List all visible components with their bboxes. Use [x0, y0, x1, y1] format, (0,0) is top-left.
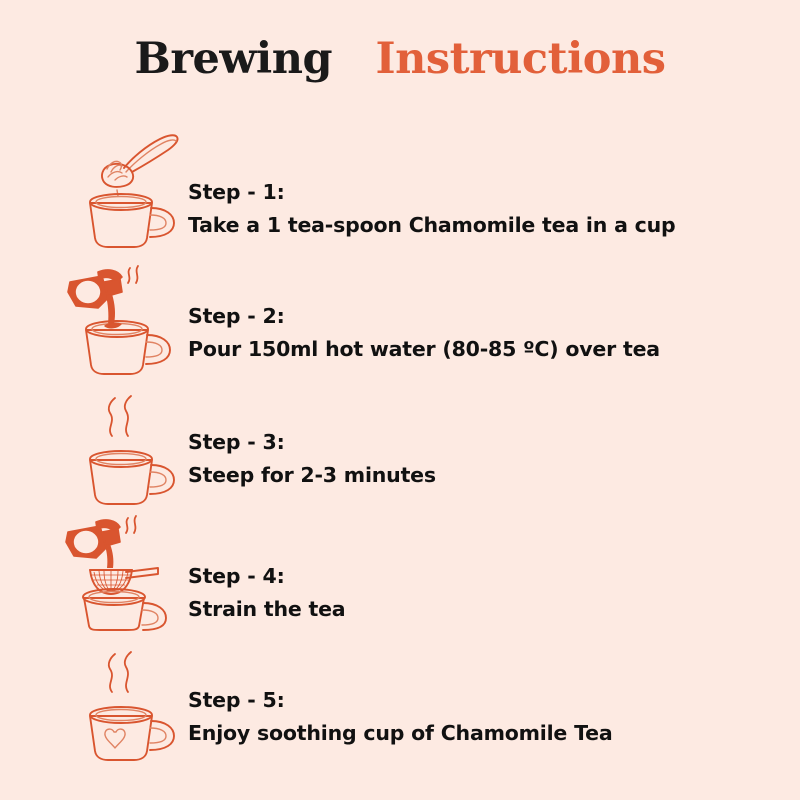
step-description: Take a 1 tea-spoon Chamomile tea in a cu…: [188, 209, 675, 242]
step-item: Step - 5: Enjoy soothing cup of Chamomil…: [0, 630, 800, 758]
page-title: Brewing Instructions: [0, 34, 800, 84]
step-description: Enjoy soothing cup of Chamomile Tea: [188, 717, 612, 750]
step-text: Step - 3: Steep for 2-3 minutes: [188, 426, 436, 492]
step-item: Step - 4: Strain the tea: [0, 502, 800, 630]
kettle-strainer-mug-icon: [46, 502, 176, 630]
step-text: Step - 4: Strain the tea: [188, 560, 345, 626]
step-text: Step - 5: Enjoy soothing cup of Chamomil…: [188, 684, 612, 750]
steaming-mug-icon: [62, 380, 192, 508]
step-item: Step - 3: Steep for 2-3 minutes: [0, 374, 800, 502]
page-title-word-accent: Instructions: [376, 34, 666, 84]
spoon-over-mug-icon: [62, 120, 192, 248]
step-item: Step - 2: Pour 150ml hot water (80-85 ºC…: [0, 246, 800, 374]
step-label: Step - 5:: [188, 684, 612, 717]
step-label: Step - 3:: [188, 426, 436, 459]
step-label: Step - 4:: [188, 560, 345, 593]
step-description: Steep for 2-3 minutes: [188, 459, 436, 492]
step-label: Step - 1:: [188, 176, 675, 209]
brewing-instructions-poster: Brewing Instructions: [0, 0, 800, 800]
step-description: Strain the tea: [188, 593, 345, 626]
steps-list: Step - 1: Take a 1 tea-spoon Chamomile t…: [0, 118, 800, 758]
kettle-pouring-into-mug-icon: [46, 246, 176, 374]
step-text: Step - 2: Pour 150ml hot water (80-85 ºC…: [188, 300, 660, 366]
page-title-word-dark: Brewing: [135, 34, 333, 84]
step-item: Step - 1: Take a 1 tea-spoon Chamomile t…: [0, 118, 800, 246]
step-label: Step - 2:: [188, 300, 660, 333]
step-text: Step - 1: Take a 1 tea-spoon Chamomile t…: [188, 176, 675, 242]
step-description: Pour 150ml hot water (80-85 ºC) over tea: [188, 333, 660, 366]
heart-mug-icon: [62, 636, 192, 764]
